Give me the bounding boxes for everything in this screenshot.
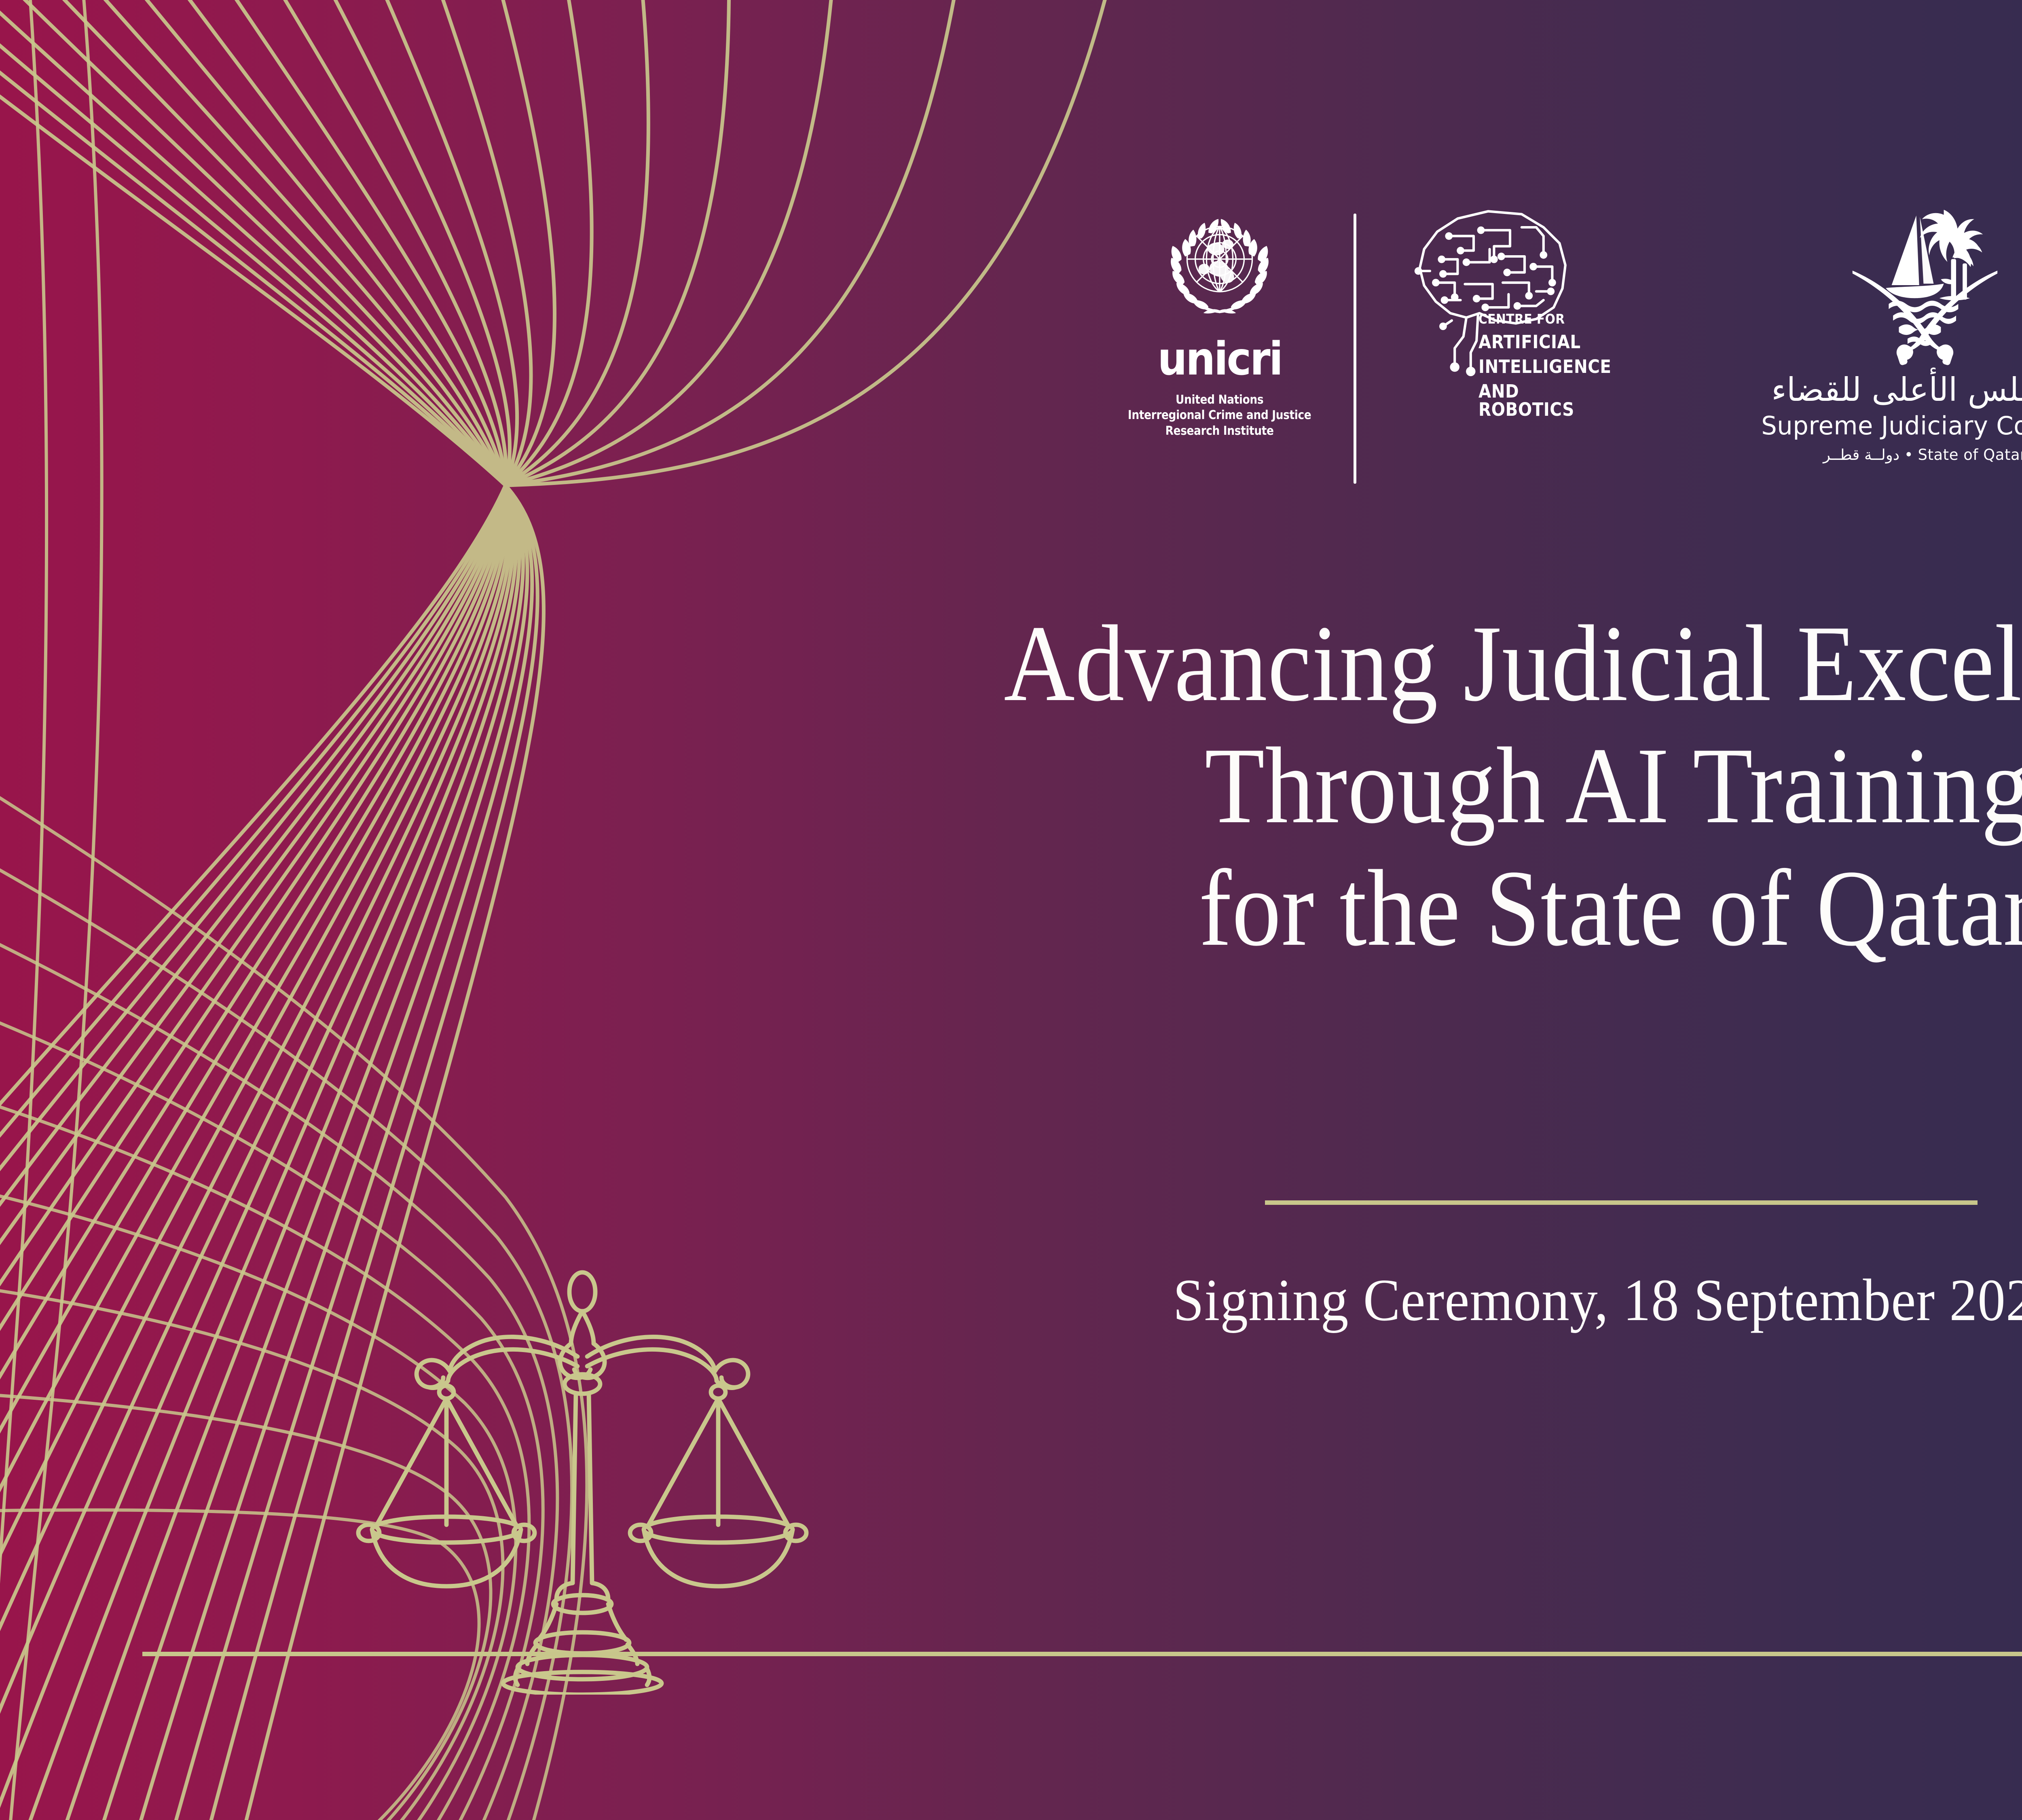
sjc-state-line: دولــة قطــر • State of Qatar bbox=[1823, 447, 2022, 462]
sjc-arabic-name: المجلس الأعلى للقضاء bbox=[1771, 374, 2022, 406]
title-line-1: Advancing Judicial Excellence bbox=[162, 603, 2022, 725]
cair-name-block: CENTRE FOR ARTIFICIAL INTELLIGENCE AND R… bbox=[1478, 312, 1612, 419]
unicri-wordmark: unicri bbox=[1157, 336, 1282, 382]
unicri-cair-lockup: unicri United Nations Interregional Crim… bbox=[1104, 194, 1626, 493]
unicri-descriptor-line1: United Nations bbox=[1176, 393, 1263, 407]
unicri-descriptor-line3: Research Institute bbox=[1165, 424, 1274, 438]
unicri-descriptor-line2: Interregional Crime and Justice bbox=[1128, 408, 1311, 422]
qatar-state-emblem-icon bbox=[1838, 197, 2012, 366]
unicri-descriptor: United Nations Interregional Crime and J… bbox=[1128, 392, 1311, 439]
page-title: Advancing Judicial Excellence Through AI… bbox=[0, 603, 2022, 969]
supreme-judiciary-council-logo: المجلس الأعلى للقضاء Supreme Judiciary C… bbox=[1719, 194, 2022, 462]
cair-line-centre-for: CENTRE FOR bbox=[1478, 312, 1612, 326]
united-nations-emblem-icon bbox=[1157, 201, 1282, 327]
scales-of-justice-icon bbox=[348, 1266, 817, 1695]
cair-line-intelligence: INTELLIGENCE bbox=[1478, 358, 1612, 376]
sjc-english-name: Supreme Judiciary Council bbox=[1761, 413, 2022, 438]
cair-line-and-robotics: AND ROBOTICS bbox=[1478, 382, 1612, 419]
presentation-slide: unicri United Nations Interregional Crim… bbox=[0, 0, 2022, 1820]
logo-divider bbox=[1354, 214, 1356, 484]
title-line-3: for the State of Qatar bbox=[162, 847, 2022, 969]
logo-row: unicri United Nations Interregional Crim… bbox=[0, 194, 2022, 518]
cair-logo: CENTRE FOR ARTIFICIAL INTELLIGENCE AND R… bbox=[1375, 194, 1626, 493]
unicri-logo: unicri United Nations Interregional Crim… bbox=[1104, 194, 1335, 493]
title-divider bbox=[1265, 1200, 1978, 1205]
scales-of-justice-illustration bbox=[348, 1266, 817, 1695]
cair-line-artificial: ARTIFICIAL bbox=[1478, 333, 1612, 351]
title-line-2: Through AI Training bbox=[162, 725, 2022, 847]
footer-rule bbox=[142, 1652, 2022, 1656]
